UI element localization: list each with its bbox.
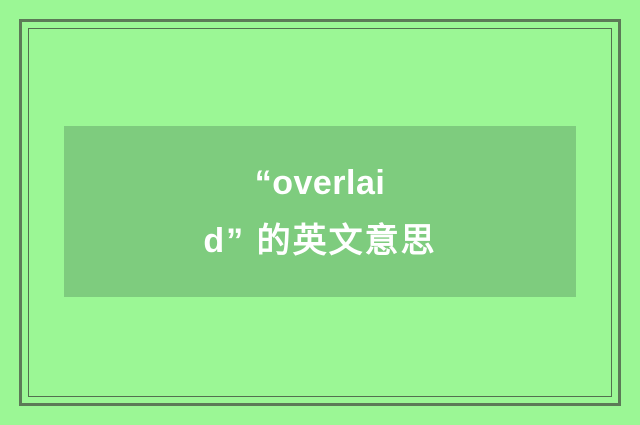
title-line-2: d” 的英文意思 [68,212,572,270]
title-block: “overlai d” 的英文意思 [64,154,576,270]
title-panel: “overlai d” 的英文意思 [64,126,576,297]
poster-canvas: “overlai d” 的英文意思 [0,0,640,425]
title-line-1: “overlai [68,154,572,212]
